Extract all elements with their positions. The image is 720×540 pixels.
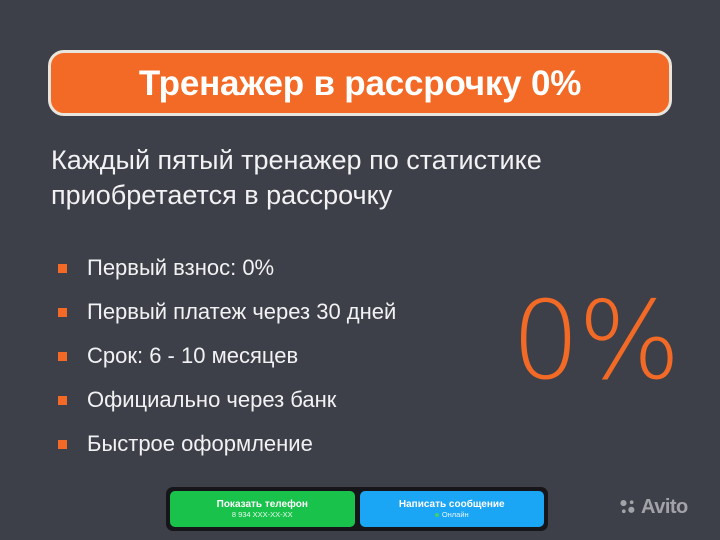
show-phone-label: Показать телефон: [217, 499, 308, 510]
square-bullet-icon: [58, 308, 67, 317]
square-bullet-icon: [58, 264, 67, 273]
online-status: Онлайн: [435, 511, 469, 519]
list-item-label: Первый взнос: 0%: [87, 257, 274, 279]
subtitle-line-2: приобретается в рассрочку: [51, 178, 681, 213]
list-item: Срок: 6 - 10 месяцев: [58, 334, 488, 378]
list-item: Первый платеж через 30 дней: [58, 290, 488, 334]
list-item-label: Первый платеж через 30 дней: [87, 301, 396, 323]
feature-list: Первый взнос: 0% Первый платеж через 30 …: [58, 246, 488, 466]
subtitle-line-1: Каждый пятый тренажер по статистике: [51, 143, 681, 178]
title-banner: Тренажер в рассрочку 0%: [48, 50, 672, 116]
subtitle: Каждый пятый тренажер по статистике прио…: [51, 143, 681, 212]
online-status-label: Онлайн: [442, 511, 469, 519]
list-item: Официально через банк: [58, 378, 488, 422]
list-item-label: Срок: 6 - 10 месяцев: [87, 345, 298, 367]
square-bullet-icon: [58, 352, 67, 361]
show-phone-button[interactable]: Показать телефон 8 934 XXX-XX-XX: [170, 491, 355, 527]
big-percent-graphic: 0%: [505, 288, 685, 396]
avito-wordmark: Avito: [641, 497, 688, 517]
list-item-label: Быстрое оформление: [87, 433, 313, 455]
avito-watermark: Avito: [619, 497, 688, 517]
online-dot-icon: [435, 513, 439, 517]
avito-logo-icon: [619, 498, 637, 516]
phone-number: 8 934 XXX-XX-XX: [232, 511, 293, 519]
page-title: Тренажер в рассрочку 0%: [139, 66, 581, 101]
list-item-label: Официально через банк: [87, 389, 336, 411]
square-bullet-icon: [58, 396, 67, 405]
square-bullet-icon: [58, 440, 67, 449]
list-item: Первый взнос: 0%: [58, 246, 488, 290]
action-bar: Показать телефон 8 934 XXX-XX-XX Написат…: [166, 487, 548, 531]
promo-slide: Тренажер в рассрочку 0% Каждый пятый тре…: [0, 0, 720, 540]
send-message-label: Написать сообщение: [399, 499, 505, 510]
send-message-button[interactable]: Написать сообщение Онлайн: [360, 491, 545, 527]
list-item: Быстрое оформление: [58, 422, 488, 466]
